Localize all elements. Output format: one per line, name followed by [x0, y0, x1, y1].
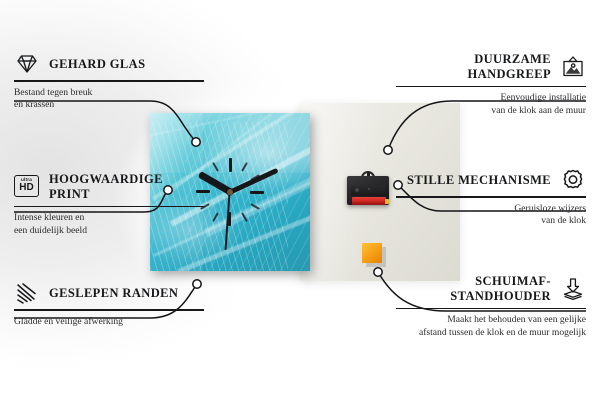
feature-stille-mechanisme: STILLE MECHANISME Geruisloze wijzers van… — [396, 168, 586, 228]
feature-divider — [396, 196, 586, 198]
feature-divider — [14, 309, 204, 311]
feature-title: DUURZAME HANDGREEP — [396, 52, 551, 82]
feature-head: DUURZAME HANDGREEP — [396, 52, 586, 82]
feature-title: SCHUIMAF- STANDHOUDER — [396, 274, 551, 304]
clock-mechanism — [347, 171, 389, 205]
feature-divider — [396, 86, 586, 88]
press-down-icon — [560, 277, 586, 301]
mechanism-detail — [351, 185, 385, 196]
feature-head: SCHUIMAF- STANDHOUDER — [396, 274, 586, 304]
gear-icon — [560, 168, 586, 192]
feature-title: STILLE MECHANISME — [407, 173, 551, 188]
feature-title: GESLEPEN RANDEN — [49, 286, 178, 301]
infographic-canvas: GEHARD GLAS Bestand tegen breuk en krass… — [0, 0, 600, 400]
feature-duurzame-handgreep: DUURZAME HANDGREEP Eenvoudige installati… — [396, 52, 586, 117]
feature-head: STILLE MECHANISME — [396, 168, 586, 192]
foam-spacer — [362, 243, 382, 263]
hatched-edge-icon — [14, 281, 40, 305]
feature-schuimaf-standhouder: SCHUIMAF- STANDHOUDER Maakt het behouden… — [396, 274, 586, 339]
feature-title: HOOGWAARDIGE PRINT — [49, 172, 204, 202]
feature-divider — [396, 308, 586, 310]
feature-head: GESLEPEN RANDEN — [14, 281, 204, 305]
feature-head: GEHARD GLAS — [14, 52, 204, 76]
mechanism-battery — [352, 197, 386, 205]
diamond-icon — [14, 52, 40, 76]
feature-description: Geruisloze wijzers van de klok — [396, 203, 586, 228]
feature-description: Gladde en veilige afwerking — [14, 316, 204, 329]
feature-description: Bestand tegen breuk en krassen — [14, 87, 204, 112]
ultra-hd-icon-hd-label: HD — [19, 183, 33, 193]
clock-center-hub — [227, 189, 233, 195]
feature-divider — [14, 206, 204, 208]
feature-gehard-glas: GEHARD GLAS Bestand tegen breuk en krass… — [14, 52, 204, 112]
mechanism-body — [347, 176, 389, 205]
feature-description: Intense kleuren en een duidelijk beeld — [14, 212, 204, 237]
feature-divider — [14, 80, 204, 82]
feature-hoogwaardige-print: ultra HD HOOGWAARDIGE PRINT Intense kleu… — [14, 172, 204, 237]
feature-description: Eenvoudige installatie van de klok aan d… — [396, 92, 586, 117]
ultra-hd-icon: ultra HD — [14, 175, 40, 199]
feature-description: Maakt het behouden van een gelijke afsta… — [396, 314, 586, 339]
feature-geslepen-randen: GESLEPEN RANDEN Gladde en veilige afwerk… — [14, 281, 204, 328]
feature-title: GEHARD GLAS — [49, 57, 145, 72]
feature-head: ultra HD HOOGWAARDIGE PRINT — [14, 172, 204, 202]
hanging-picture-icon — [560, 55, 586, 79]
